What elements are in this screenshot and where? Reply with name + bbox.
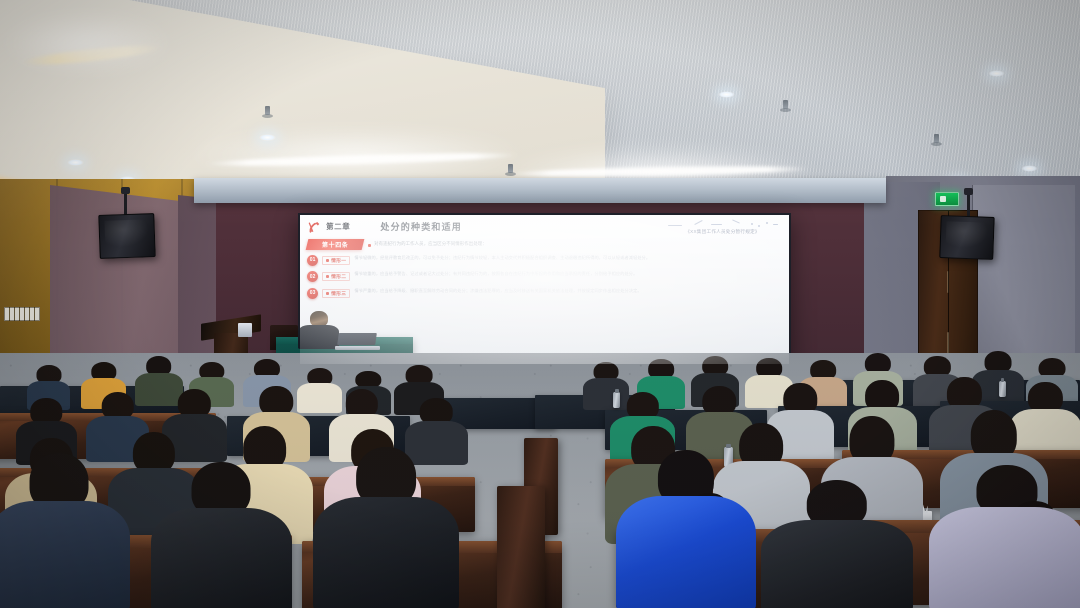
attendee-torso <box>313 497 459 608</box>
attendee-dark-coat <box>313 447 459 608</box>
attendee-black-suit <box>761 480 912 608</box>
attendee-navy-jacket <box>0 453 130 608</box>
attendee-torso <box>616 496 756 608</box>
slide-item-tag-text: 情形三 <box>331 290 346 297</box>
ceiling-downlight <box>259 134 276 141</box>
slide-item-tag-text: 情形二 <box>331 273 346 280</box>
sprinkler-head-icon <box>265 106 270 115</box>
bullet-dot-icon <box>326 259 329 262</box>
presenter-laptop <box>335 333 380 351</box>
podium-microphone-panel <box>238 323 251 337</box>
attendee-torso <box>0 501 130 608</box>
slide-item-number: 03 <box>307 288 318 299</box>
bullet-dot-icon <box>368 244 371 247</box>
article-number-badge: 第十四条 <box>306 239 365 250</box>
attendee-lavender-puffer <box>929 465 1080 608</box>
sprinkler-head-icon <box>934 134 939 143</box>
slide-item-number: 02 <box>307 271 318 282</box>
article-lead-text: 对有违纪行为的工作人员，应当区分不同情形作出处理： <box>374 241 487 247</box>
presenter-torso <box>298 325 339 349</box>
attendee-torso <box>761 520 912 608</box>
article-badge-text: 第十四条 <box>322 240 348 249</box>
slide-subtitle-block: 《XX集团工作人员处分暂行规定》 <box>664 221 782 235</box>
slide-item: 02 情形二 情节较重的，应当给予警告、记过或者记大过处分；有共同违纪行为的，按… <box>307 271 781 282</box>
bullet-dot-icon <box>326 275 329 278</box>
slide-item: 03 情形三 情节严重的，应当给予降级、撤职直至解除劳动合同的处分；涉嫌违法犯罪… <box>307 288 781 299</box>
sprinkler-head-icon <box>783 100 788 109</box>
slide-item-list: 01 情形一 情节轻微的，经批评教育后改正的，可以免予处分；违纪行为情节较轻，本… <box>307 255 781 299</box>
subtitle-decoration <box>664 221 782 228</box>
slide-item-tag: 情形一 <box>322 256 350 265</box>
slide-item-tag-text: 情形一 <box>331 257 346 264</box>
laptop-keyboard <box>335 346 380 351</box>
slide-item-tag: 情形二 <box>322 272 350 281</box>
slide-title: 处分的种类和适用 <box>380 220 462 233</box>
article-lead-row: 对有违纪行为的工作人员，应当区分不同情形作出处理： <box>368 241 781 247</box>
slide-header: 第二章 处分的种类和适用 《XX集团工作人 <box>307 220 781 234</box>
slide-item-body: 情节较重的，应当给予警告、记过或者记大过处分；有共同违纪行为的，按照各自在违纪行… <box>354 271 781 278</box>
sprinkler-head-icon <box>508 164 513 173</box>
attendee-blue-puffer <box>616 450 756 608</box>
slide-item-tag: 情形三 <box>322 289 350 298</box>
slide-subtitle: 《XX集团工作人员处分暂行规定》 <box>664 229 782 235</box>
party-hammer-sickle-emblem-icon <box>307 220 322 234</box>
slide-chapter-label: 第二章 <box>326 221 350 232</box>
slide-item-body: 情节轻微的，经批评教育后改正的，可以免予处分；违纪行为情节较轻，本人主动交代并积… <box>354 255 781 262</box>
wall-speaker-left <box>99 213 157 259</box>
slide-item-body: 情节严重的，应当给予降级、撤职直至解除劳动合同的处分；涉嫌违法犯罪的，应当及时移… <box>354 288 781 295</box>
emergency-exit-sign-icon <box>935 192 959 205</box>
attendee-torso <box>929 507 1080 608</box>
slide-item: 01 情形一 情节轻微的，经批评教育后改正的，可以免予处分；违纪行为情节较轻，本… <box>307 255 781 266</box>
attendee-black-parka <box>151 462 291 608</box>
conference-hall-photo: 第二章 处分的种类和适用 《XX集团工作人 <box>0 0 1080 608</box>
screen-pelmet-valance <box>194 178 885 204</box>
slide-article-row: 第十四条 对有违纪行为的工作人员，应当区分不同情形作出处理： <box>307 239 781 250</box>
attendee-torso <box>151 508 291 608</box>
bullet-dot-icon <box>326 292 329 295</box>
ceiling-downlight <box>988 70 1005 77</box>
laptop-screen <box>338 333 378 345</box>
presenter-at-head-table <box>298 311 339 349</box>
bench-end-panel <box>497 486 546 608</box>
slide-item-number: 01 <box>307 255 318 266</box>
wall-speaker-right <box>939 215 994 259</box>
wall-switch-panel[interactable] <box>4 307 40 321</box>
